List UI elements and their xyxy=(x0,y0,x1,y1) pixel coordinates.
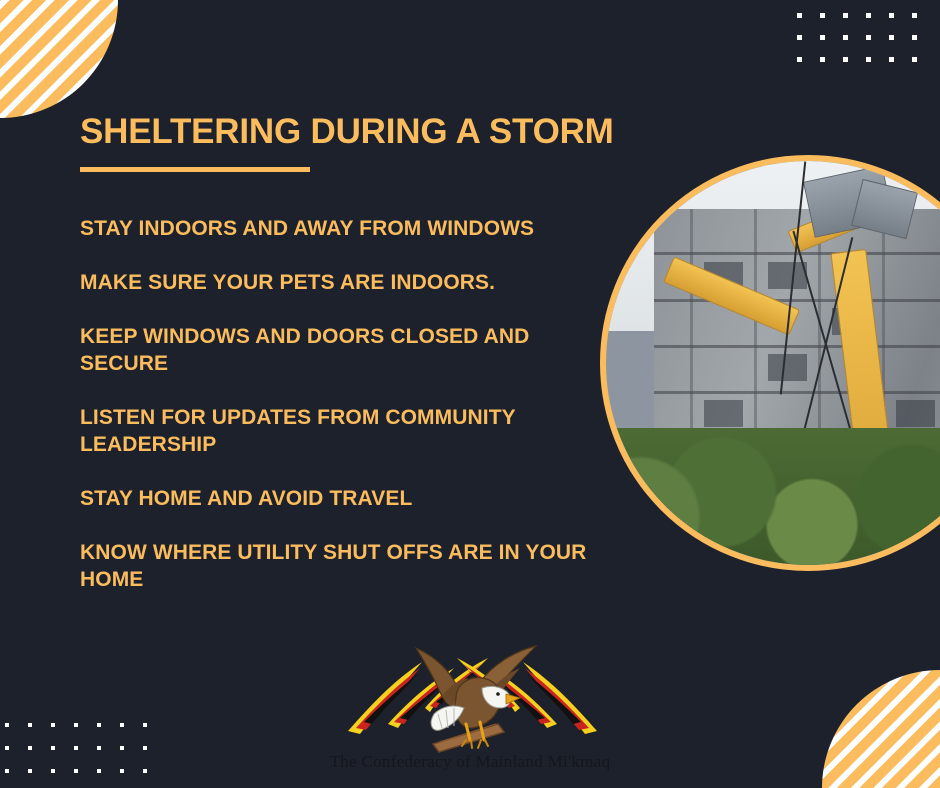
dot xyxy=(97,746,101,750)
striped-quarter-circle-top-left xyxy=(0,0,118,118)
dot xyxy=(120,746,124,750)
dot xyxy=(889,35,894,40)
list-item: STAY INDOORS AND AWAY FROM WINDOWS xyxy=(80,215,595,242)
safety-tips-list: STAY INDOORS AND AWAY FROM WINDOWS MAKE … xyxy=(80,215,595,620)
dot xyxy=(51,723,55,727)
dot xyxy=(97,723,101,727)
dot xyxy=(797,35,802,40)
headline-block: SHELTERING DURING A STORM xyxy=(80,114,680,172)
dot xyxy=(28,723,32,727)
dot xyxy=(866,57,871,62)
dot xyxy=(889,13,894,18)
striped-circle-shape xyxy=(0,0,118,118)
dot xyxy=(820,57,825,62)
dot xyxy=(28,746,32,750)
dot xyxy=(912,35,917,40)
list-item: LISTEN FOR UPDATES FROM COMMUNITY LEADER… xyxy=(80,404,595,458)
logo-caption: The Confederacy of Mainland Mi'kmaq xyxy=(0,752,940,772)
dot-grid-top-right xyxy=(797,0,935,70)
dot xyxy=(820,13,825,18)
dot xyxy=(843,57,848,62)
dot xyxy=(843,35,848,40)
list-item: KNOW WHERE UTILITY SHUT OFFS ARE IN YOUR… xyxy=(80,539,595,593)
dot xyxy=(797,57,802,62)
storm-safety-poster: SHELTERING DURING A STORM STAY INDOORS A… xyxy=(0,0,940,788)
list-item: STAY HOME AND AVOID TRAVEL xyxy=(80,485,595,512)
dot xyxy=(843,13,848,18)
dot xyxy=(820,35,825,40)
dot xyxy=(912,13,917,18)
dot xyxy=(866,13,871,18)
dot xyxy=(889,57,894,62)
dot xyxy=(74,746,78,750)
list-item: KEEP WINDOWS AND DOORS CLOSED AND SECURE xyxy=(80,323,595,377)
dot xyxy=(51,746,55,750)
eagle-logo-icon xyxy=(330,636,615,754)
title-underline xyxy=(80,167,310,172)
photo-inner xyxy=(606,161,940,565)
foliage xyxy=(606,428,940,565)
dot xyxy=(866,35,871,40)
dot xyxy=(5,746,9,750)
dot xyxy=(143,723,147,727)
dot xyxy=(143,746,147,750)
page-title: SHELTERING DURING A STORM xyxy=(80,114,680,151)
storm-damage-photo xyxy=(600,155,940,571)
list-item: MAKE SURE YOUR PETS ARE INDOORS. xyxy=(80,269,595,296)
dot xyxy=(5,723,9,727)
dot xyxy=(120,723,124,727)
dot xyxy=(74,723,78,727)
dot xyxy=(797,13,802,18)
dot xyxy=(912,57,917,62)
